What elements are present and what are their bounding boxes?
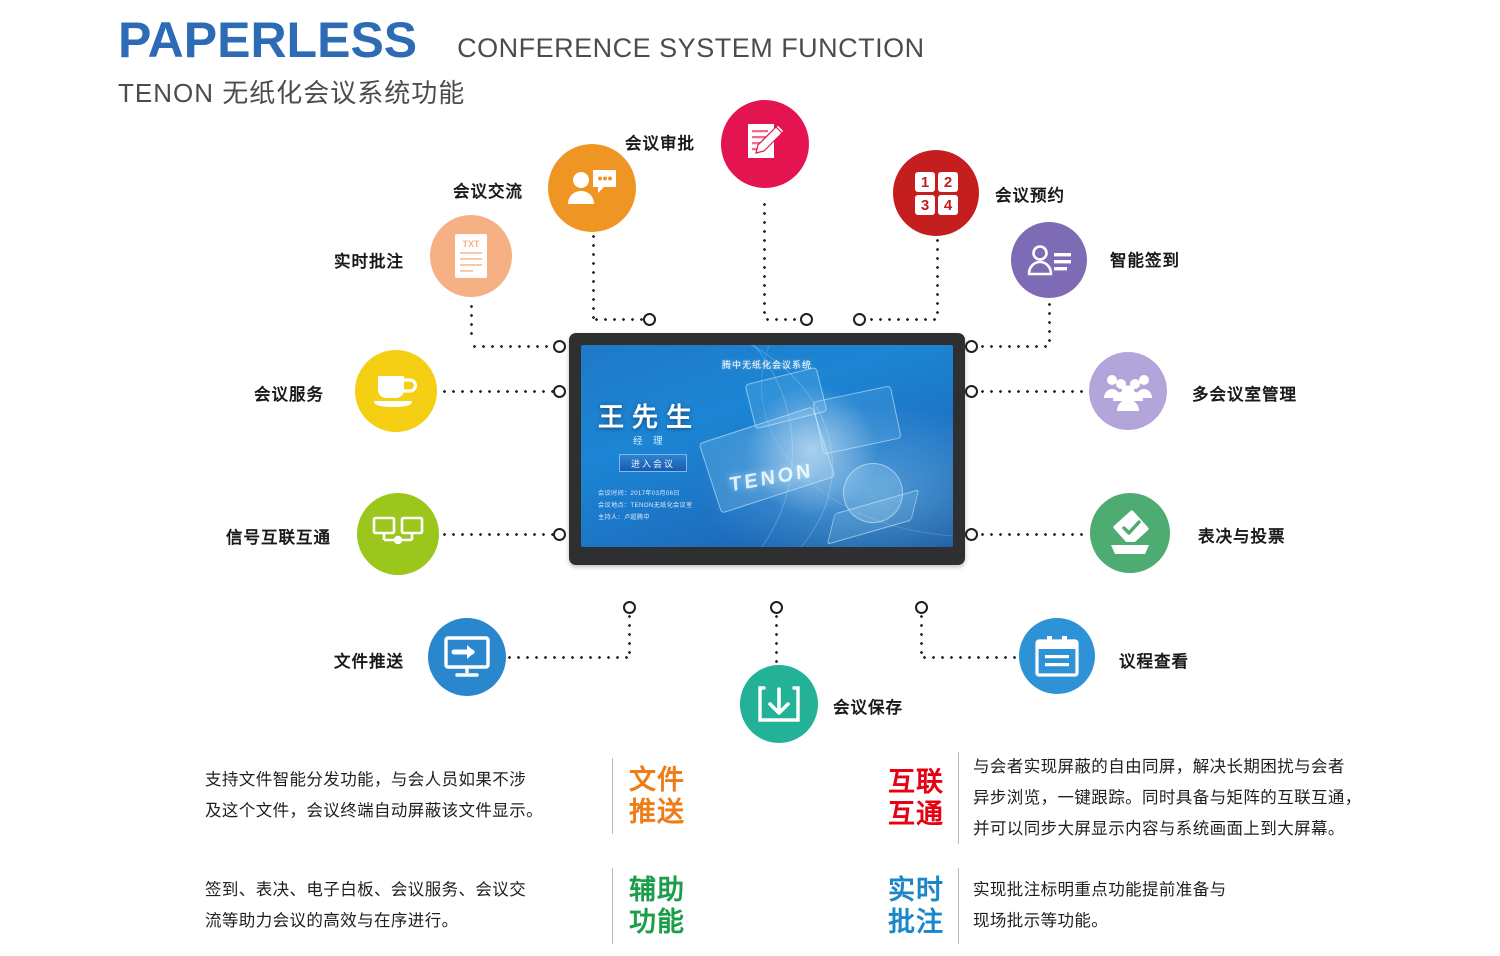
node-right-1	[965, 340, 978, 353]
blurb-annotation: 实时 批注 实现批注标明重点功能提前准备与 现场批示等功能。	[888, 862, 1348, 950]
blurb-auxiliary-text: 签到、表决、电子白板、会议服务、会议交 流等助力会议的高效与在序进行。	[205, 875, 596, 937]
blurb-tag-line: 互联	[888, 766, 944, 798]
svg-text:1: 1	[921, 174, 929, 191]
download-tray-icon	[740, 665, 818, 743]
calendar-agenda-icon	[1019, 618, 1095, 694]
connector-vote-horizontal	[978, 533, 1088, 536]
page-title: PAPERLESS	[118, 14, 417, 67]
connector-service-horizontal	[440, 390, 555, 393]
blurb-tag-line: 互通	[888, 798, 944, 830]
blurb-divider	[612, 868, 613, 944]
feature-label-signal-interconnect: 信号互联互通	[226, 524, 331, 548]
blurb-tag-line: 辅助	[629, 874, 685, 906]
feature-label-agenda-view: 议程查看	[1119, 648, 1189, 672]
blurb-interconnect-text: 与会者实现屏蔽的自由同屏，解决长期困扰与会者 异步浏览，一键跟踪。同时具备与矩阵…	[973, 752, 1408, 845]
connector-signal-horizontal	[440, 533, 555, 536]
node-bottom-2	[770, 601, 783, 614]
svg-text:4: 4	[944, 197, 953, 214]
page-header: PAPERLESS CONFERENCE SYSTEM FUNCTION TEN…	[118, 14, 925, 110]
connector-approval-vertical	[763, 200, 766, 320]
blurb-annotation-text: 实现批注标明重点功能提前准备与 现场批示等功能。	[973, 875, 1348, 937]
node-top-3	[853, 313, 866, 326]
blurb-tag-line: 批注	[888, 906, 944, 938]
connector-exchange-horizontal	[592, 318, 647, 321]
screen-meeting-place: 会议地点：TENON无纸化会议室	[598, 500, 693, 509]
blurb-line: 支持文件智能分发功能，与会人员如果不涉	[205, 765, 596, 796]
blurb-tag-line: 推送	[629, 796, 685, 828]
number-grid-icon: 1 2 3 4	[893, 150, 979, 236]
screen-user-name: 王先生	[598, 397, 700, 434]
node-right-3	[965, 528, 978, 541]
connector-booking-horizontal	[858, 318, 938, 321]
ballot-box-check-icon	[1090, 493, 1170, 573]
connector-filepush-horizontal	[505, 656, 629, 659]
connector-multiroom-horizontal	[978, 390, 1088, 393]
people-group-icon	[1089, 352, 1167, 430]
blurb-line: 现场批示等功能。	[973, 906, 1348, 937]
blurb-auxiliary: 签到、表决、电子白板、会议服务、会议交 流等助力会议的高效与在序进行。 辅助 功…	[205, 862, 685, 950]
node-left-2	[553, 385, 566, 398]
feature-label-meeting-save: 会议保存	[833, 694, 903, 718]
blurb-interconnect-tag: 互联 互通	[888, 766, 944, 830]
connector-agenda-vertical	[920, 612, 923, 658]
connector-filepush-vertical	[628, 612, 631, 658]
blurb-divider	[612, 758, 613, 834]
blurb-line: 异步浏览，一键跟踪。同时具备与矩阵的互联互通，	[973, 783, 1408, 814]
page-title-cn: TENON 无纸化会议系统功能	[118, 73, 925, 110]
feature-label-vote-and-ballot: 表决与投票	[1198, 523, 1286, 547]
node-bottom-3	[915, 601, 928, 614]
feature-label-meeting-service: 会议服务	[254, 381, 324, 405]
connector-save-vertical	[775, 612, 778, 666]
blurb-line: 流等助力会议的高效与在序进行。	[205, 906, 596, 937]
blurb-line: 实现批注标明重点功能提前准备与	[973, 875, 1348, 906]
screen-meeting-host: 主持人：卢超腾中	[598, 512, 650, 521]
svg-text:3: 3	[921, 197, 929, 214]
blurb-file-push-tag: 文件 推送	[629, 764, 685, 828]
dual-monitor-icon	[357, 493, 439, 575]
feature-label-meeting-approval: 会议审批	[625, 130, 695, 154]
connector-exchange-vertical	[592, 232, 595, 320]
terminal-screen[interactable]: TENON 腾中无纸化会议系统 王先生 经 理 进入会议 会议时间：2017年0…	[581, 345, 953, 547]
connector-annotation-vertical	[470, 302, 473, 338]
connector-annotation-horizontal	[470, 345, 558, 348]
feature-label-file-push: 文件推送	[334, 648, 404, 672]
blurb-file-push-text: 支持文件智能分发功能，与会人员如果不涉 及这个文件，会议终端自动屏蔽该文件显示。	[205, 765, 596, 827]
document-pencil-icon	[721, 100, 809, 188]
node-top-left-1	[553, 340, 566, 353]
connector-checkin-horizontal	[978, 345, 1050, 348]
node-bottom-1	[623, 601, 636, 614]
feature-label-meeting-booking: 会议预约	[995, 182, 1065, 206]
blurb-line: 并可以同步大屏显示内容与系统画面上到大屏幕。	[973, 814, 1408, 845]
screen-title: 腾中无纸化会议系统	[581, 358, 953, 371]
blurb-file-push: 支持文件智能分发功能，与会人员如果不涉 及这个文件，会议终端自动屏蔽该文件显示。…	[205, 752, 685, 840]
node-top-2	[800, 313, 813, 326]
blurb-divider	[958, 868, 959, 944]
infographic-canvas: PAPERLESS CONFERENCE SYSTEM FUNCTION TEN…	[0, 0, 1500, 956]
person-badge-icon	[1011, 222, 1087, 298]
connector-booking-vertical	[936, 236, 939, 320]
node-right-2	[965, 385, 978, 398]
svg-text:2: 2	[944, 174, 952, 191]
blurb-tag-line: 文件	[629, 764, 685, 796]
screen-user-role: 经 理	[633, 433, 667, 447]
txt-document-icon: TXT	[430, 215, 512, 297]
connector-approval-horizontal	[763, 318, 805, 321]
connector-agenda-horizontal	[920, 656, 1020, 659]
feature-label-smart-checkin: 智能签到	[1110, 247, 1180, 271]
monitor-arrow-icon	[428, 618, 506, 696]
node-left-3	[553, 528, 566, 541]
blurb-divider	[958, 752, 959, 844]
enter-meeting-button[interactable]: 进入会议	[619, 454, 687, 472]
svg-text:TXT: TXT	[463, 239, 481, 249]
conference-terminal-monitor[interactable]: TENON 腾中无纸化会议系统 王先生 经 理 进入会议 会议时间：2017年0…	[569, 333, 965, 565]
person-chat-icon	[548, 144, 636, 232]
coffee-cup-icon	[355, 350, 437, 432]
feature-label-multi-room-manage: 多会议室管理	[1192, 381, 1297, 405]
node-top-1	[643, 313, 656, 326]
feature-label-realtime-annotation: 实时批注	[334, 248, 404, 272]
blurb-line: 及这个文件，会议终端自动屏蔽该文件显示。	[205, 796, 596, 827]
blurb-tag-line: 功能	[629, 906, 685, 938]
connector-checkin-vertical	[1048, 300, 1051, 348]
blurb-interconnect: 互联 互通 与会者实现屏蔽的自由同屏，解决长期困扰与会者 异步浏览，一键跟踪。同…	[888, 748, 1408, 848]
blurb-annotation-tag: 实时 批注	[888, 874, 944, 938]
blurb-tag-line: 实时	[888, 874, 944, 906]
feature-label-meeting-exchange: 会议交流	[453, 178, 523, 202]
screen-meeting-time: 会议时间：2017年03月06日	[598, 488, 680, 497]
page-subtitle: CONFERENCE SYSTEM FUNCTION	[457, 33, 925, 64]
blurb-line: 签到、表决、电子白板、会议服务、会议交	[205, 875, 596, 906]
blurb-auxiliary-tag: 辅助 功能	[629, 874, 685, 938]
blurb-line: 与会者实现屏蔽的自由同屏，解决长期困扰与会者	[973, 752, 1408, 783]
